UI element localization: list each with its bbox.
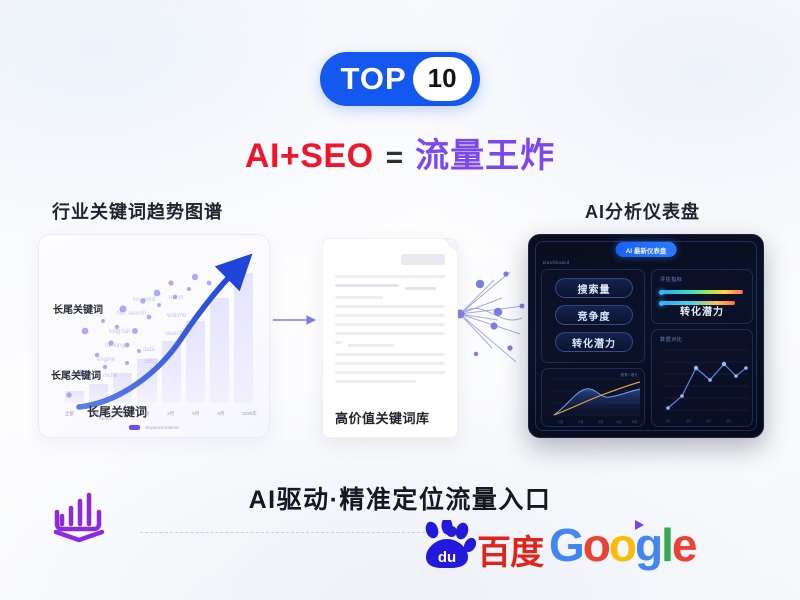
ai-dashboard-card[interactable]: AI 最新仪表盘 Dashboard 搜索量 竞争度 转化潜力 <box>528 234 764 438</box>
dashboard-sub-label: Dashboard <box>543 260 570 265</box>
axis-tick: 2025年 <box>242 411 257 417</box>
svg-text:engine: engine <box>97 357 116 363</box>
keyword-trend-card[interactable]: keywordtrend No. searchvolume long tails… <box>38 234 270 438</box>
svg-text:Q1: Q1 <box>666 419 671 423</box>
baidu-logo: du 百度 <box>420 520 543 570</box>
google-letter-e: e <box>672 522 696 568</box>
doc-text-lines <box>335 275 445 389</box>
badge-number: 10 <box>413 57 472 101</box>
area-chart-legend: 趋势 / 增长 <box>621 373 638 378</box>
gauge-panel-label: 评估指标 <box>660 276 682 283</box>
google-letter-l: l <box>661 522 672 568</box>
badge-top-label: TOP <box>340 63 406 96</box>
svg-text:long tail: long tail <box>109 329 130 335</box>
trend-x-axis: 全部 1月 2月 3月 4月 5月 6月 2025年 <box>65 411 257 417</box>
pill-conversion-potential[interactable]: 转化潜力 <box>555 332 633 352</box>
axis-tick: 5月 <box>192 411 199 417</box>
axis-tick: 3月 <box>142 411 149 417</box>
trend-area-chart-panel: 1月2月 3月4月5月 趋势 / 增长 <box>541 368 645 427</box>
bar-chart-pedestal-icon <box>48 486 110 548</box>
gauge-overlay-label: 转化潜力 <box>652 303 752 318</box>
network-connector-graphic <box>458 262 530 372</box>
svg-text:keyword: keyword <box>133 297 155 303</box>
metric-pills-panel: 搜索量 竞争度 转化潜力 <box>541 269 645 363</box>
trend-overlay-svg: keywordtrend No. searchvolume long tails… <box>39 235 270 438</box>
svg-text:trend: trend <box>169 295 183 301</box>
trend-x-title: Period <box>99 416 112 421</box>
pill-search-volume[interactable]: 搜索量 <box>555 278 633 298</box>
doc-card-title: 高价值关键词库 <box>335 408 430 427</box>
axis-tick: 1月 <box>92 411 99 417</box>
trend-legend: Keyword volume <box>39 425 269 430</box>
baidu-paw-icon: du <box>420 520 476 570</box>
svg-text:data: data <box>143 347 155 353</box>
svg-text:volume: volume <box>167 313 187 319</box>
top-10-badge: TOP 10 <box>320 52 479 106</box>
page-fold-icon <box>443 239 457 253</box>
google-letter-G: G <box>549 522 583 568</box>
dashboard-title-badge: AI 最新仪表盘 <box>616 242 677 257</box>
svg-text:5月: 5月 <box>632 419 637 424</box>
baidu-du-text: du <box>438 549 456 566</box>
comparison-line-chart-panel: 数据对比 Q1Q2 Q3Q4 <box>651 329 753 427</box>
section-heading-right: AI分析仪表盘 <box>585 198 700 224</box>
main-title: AI+SEO = 流量王炸 <box>0 128 800 177</box>
gauge-dot-1 <box>659 290 664 295</box>
keyword-library-card[interactable]: 高价值关键词库 <box>322 238 458 438</box>
svg-text:niche: niche <box>103 373 118 379</box>
svg-text:Q4: Q4 <box>726 419 731 423</box>
line-chart-svg: Q1Q2 Q3Q4 <box>652 342 754 438</box>
axis-tick: 全部 <box>65 411 74 417</box>
title-ai-seo: AI+SEO <box>245 137 374 176</box>
axis-tick: 6月 <box>217 411 224 417</box>
svg-text:Q3: Q3 <box>706 419 711 423</box>
dashed-divider <box>140 532 450 533</box>
section-heading-left: 行业关键词趋势图谱 <box>52 198 223 224</box>
top-badge-wrap: TOP 10 <box>0 52 800 106</box>
svg-text:No. search: No. search <box>117 311 146 317</box>
google-letter-o2: o <box>609 522 635 568</box>
title-liuliang-wangzha: 流量王炸 <box>415 128 555 177</box>
score-gauge-panel: 评估指标 转化潜力 <box>651 269 753 324</box>
svg-text:2月: 2月 <box>578 419 583 424</box>
svg-text:1月: 1月 <box>558 419 563 424</box>
play-triangle-icon <box>635 520 644 530</box>
axis-tick: 2月 <box>117 411 124 417</box>
connector-arrow-icon <box>272 312 318 328</box>
svg-text:Q2: Q2 <box>686 419 691 423</box>
legend-swatch <box>129 425 140 430</box>
svg-text:3月: 3月 <box>598 419 603 424</box>
trend-label-1: 长尾关键词 <box>53 301 103 316</box>
svg-text:SEO: SEO <box>145 359 158 365</box>
legend-label: Keyword volume <box>145 425 178 430</box>
baidu-chinese-text: 百度 <box>477 536 543 570</box>
gauge-bar-1 <box>661 290 743 294</box>
title-equals: = <box>386 141 404 175</box>
trend-label-2: 长尾关键词 <box>51 367 101 382</box>
bottom-slogan: AI驱动·精准定位流量入口 <box>0 480 800 516</box>
google-logo: G o o g l e <box>549 522 695 568</box>
pill-competition[interactable]: 竞争度 <box>555 305 633 325</box>
svg-text:ranking: ranking <box>105 343 125 349</box>
search-engine-logos: du 百度 G o o g l e <box>420 520 695 570</box>
svg-text:4月: 4月 <box>616 419 621 424</box>
google-letter-o1: o <box>583 522 609 568</box>
slide-canvas: TOP 10 AI+SEO = 流量王炸 行业关键词趋势图谱 AI分析仪表盘 <box>0 0 800 600</box>
axis-tick: 4月 <box>167 411 174 417</box>
doc-header-block <box>401 254 445 265</box>
